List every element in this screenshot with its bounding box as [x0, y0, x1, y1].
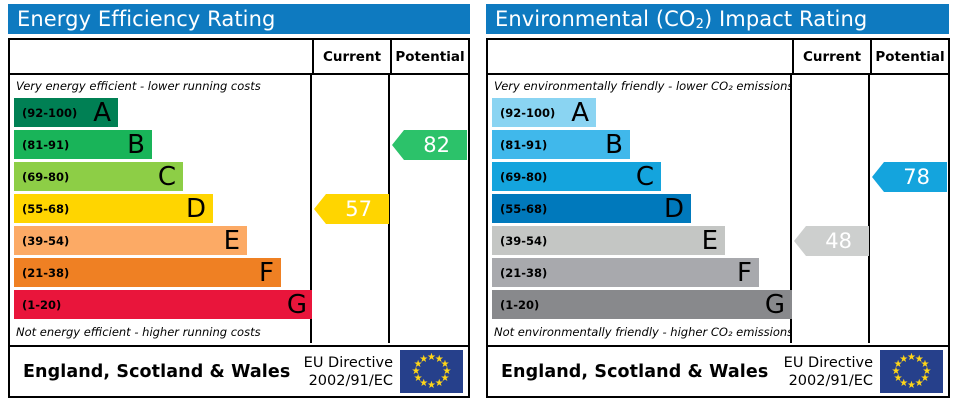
band-range-D: (55-68) — [492, 202, 547, 216]
eu-flag-icon: ★★★★★★★★★★★★ — [880, 350, 943, 393]
potential-rating-arrow: 78 — [872, 162, 947, 192]
band-range-A: (92-100) — [14, 106, 77, 120]
eu-star-icon: ★ — [907, 381, 916, 390]
band-bar-B: (81-91)B — [14, 130, 152, 159]
rating-scale: Very environmentally friendly - lower CO… — [488, 75, 792, 343]
band-letter-A: A — [93, 100, 111, 126]
column-header-current: Current — [792, 40, 870, 73]
band-row: (55-68)D — [488, 193, 792, 225]
band-row: (92-100)A — [10, 97, 312, 129]
band-range-B: (81-91) — [14, 138, 69, 152]
eu-star-icon: ★ — [915, 379, 924, 388]
potential-rating-arrow-cell: 82 — [390, 75, 468, 343]
band-letter-A: A — [571, 100, 589, 126]
band-range-G: (1-20) — [492, 298, 539, 312]
eu-star-icon: ★ — [427, 381, 436, 390]
band-row: (1-20)G — [10, 289, 312, 321]
band-row: (92-100)A — [488, 97, 792, 129]
eu-star-icon: ★ — [899, 355, 908, 364]
band-range-A: (92-100) — [492, 106, 555, 120]
band-range-C: (69-80) — [14, 170, 69, 184]
band-bar-C: (69-80)C — [492, 162, 661, 191]
panel-title-co2: Environmental (CO2) Impact Rating — [486, 4, 949, 34]
band-letter-F: F — [259, 260, 274, 286]
band-letter-D: D — [186, 196, 206, 222]
band-bar-F: (21-38)F — [14, 258, 281, 287]
eu-star-icon: ★ — [419, 355, 428, 364]
band-letter-C: C — [158, 164, 176, 190]
current-rating-arrow-cell: 48 — [792, 75, 870, 343]
band-row: (1-20)G — [488, 289, 792, 321]
band-range-G: (1-20) — [14, 298, 61, 312]
band-bar-D: (55-68)D — [492, 194, 691, 223]
band-range-E: (39-54) — [14, 234, 69, 248]
band-bar-C: (69-80)C — [14, 162, 183, 191]
rating-scale: Very energy efficient - lower running co… — [10, 75, 312, 343]
band-range-E: (39-54) — [492, 234, 547, 248]
band-bar-E: (39-54)E — [492, 226, 725, 255]
band-letter-E: E — [702, 228, 718, 254]
band-letter-G: G — [765, 292, 785, 318]
panel-energy: Energy Efficiency RatingCurrentPotential… — [0, 0, 478, 404]
note-top: Very energy efficient - lower running co… — [10, 75, 312, 97]
chart-body: Very environmentally friendly - lower CO… — [488, 75, 948, 343]
band-bar-F: (21-38)F — [492, 258, 759, 287]
potential-rating-arrow-cell: 78 — [870, 75, 948, 343]
panel-footer: England, Scotland & WalesEU Directive200… — [488, 345, 948, 396]
chart-body: Very energy efficient - lower running co… — [10, 75, 468, 343]
band-row: (69-80)C — [10, 161, 312, 193]
band-range-D: (55-68) — [14, 202, 69, 216]
epc-chart-sheet: Energy Efficiency RatingCurrentPotential… — [0, 0, 957, 404]
column-header-potential: Potential — [870, 40, 948, 73]
band-bar-G: (1-20)G — [492, 290, 792, 319]
co2-subscript: 2 — [696, 17, 704, 32]
panel-footer: England, Scotland & WalesEU Directive200… — [10, 345, 468, 396]
band-row: (39-54)E — [488, 225, 792, 257]
eu-directive-label: EU Directive2002/91/EC — [784, 354, 880, 390]
current-rating-arrow: 57 — [314, 194, 389, 224]
panel-title-energy: Energy Efficiency Rating — [8, 4, 470, 34]
band-row: (81-91)B — [10, 129, 312, 161]
potential-rating-arrow: 82 — [392, 130, 467, 160]
band-letter-G: G — [287, 292, 307, 318]
band-range-B: (81-91) — [492, 138, 547, 152]
band-letter-E: E — [224, 228, 240, 254]
panel-co2: Environmental (CO2) Impact RatingCurrent… — [478, 0, 957, 404]
current-rating-arrow-cell: 57 — [312, 75, 390, 343]
band-letter-B: B — [605, 132, 623, 158]
eu-flag-icon: ★★★★★★★★★★★★ — [400, 350, 463, 393]
band-bars: (92-100)A(81-91)B(69-80)C(55-68)D(39-54)… — [488, 97, 792, 321]
band-row: (81-91)B — [488, 129, 792, 161]
eu-star-icon: ★ — [435, 379, 444, 388]
band-bar-A: (92-100)A — [492, 98, 596, 127]
eu-directive-label: EU Directive2002/91/EC — [304, 354, 400, 390]
column-header-row: CurrentPotential — [10, 40, 468, 75]
chart-frame-energy: CurrentPotentialVery energy efficient - … — [8, 38, 470, 398]
region-label: England, Scotland & Wales — [10, 362, 304, 382]
column-header-blank — [10, 40, 312, 73]
band-row: (21-38)F — [10, 257, 312, 289]
band-row: (39-54)E — [10, 225, 312, 257]
note-bottom: Not environmentally friendly - higher CO… — [488, 321, 792, 343]
column-header-row: CurrentPotential — [488, 40, 948, 75]
band-bars: (92-100)A(81-91)B(69-80)C(55-68)D(39-54)… — [10, 97, 312, 321]
band-letter-D: D — [664, 196, 684, 222]
band-bar-A: (92-100)A — [14, 98, 118, 127]
column-header-current: Current — [312, 40, 390, 73]
band-row: (69-80)C — [488, 161, 792, 193]
band-bar-G: (1-20)G — [14, 290, 312, 319]
band-range-F: (21-38) — [14, 266, 69, 280]
band-letter-F: F — [737, 260, 752, 286]
chart-frame-co2: CurrentPotentialVery environmentally fri… — [486, 38, 950, 398]
note-top: Very environmentally friendly - lower CO… — [488, 75, 792, 97]
band-bar-E: (39-54)E — [14, 226, 247, 255]
band-bar-B: (81-91)B — [492, 130, 630, 159]
band-range-C: (69-80) — [492, 170, 547, 184]
band-range-F: (21-38) — [492, 266, 547, 280]
note-bottom: Not energy efficient - higher running co… — [10, 321, 312, 343]
column-header-blank — [488, 40, 792, 73]
band-letter-B: B — [127, 132, 145, 158]
current-rating-arrow: 48 — [794, 226, 869, 256]
band-row: (21-38)F — [488, 257, 792, 289]
region-label: England, Scotland & Wales — [488, 362, 784, 382]
band-row: (55-68)D — [10, 193, 312, 225]
band-bar-D: (55-68)D — [14, 194, 213, 223]
column-header-potential: Potential — [390, 40, 468, 73]
band-letter-C: C — [636, 164, 654, 190]
